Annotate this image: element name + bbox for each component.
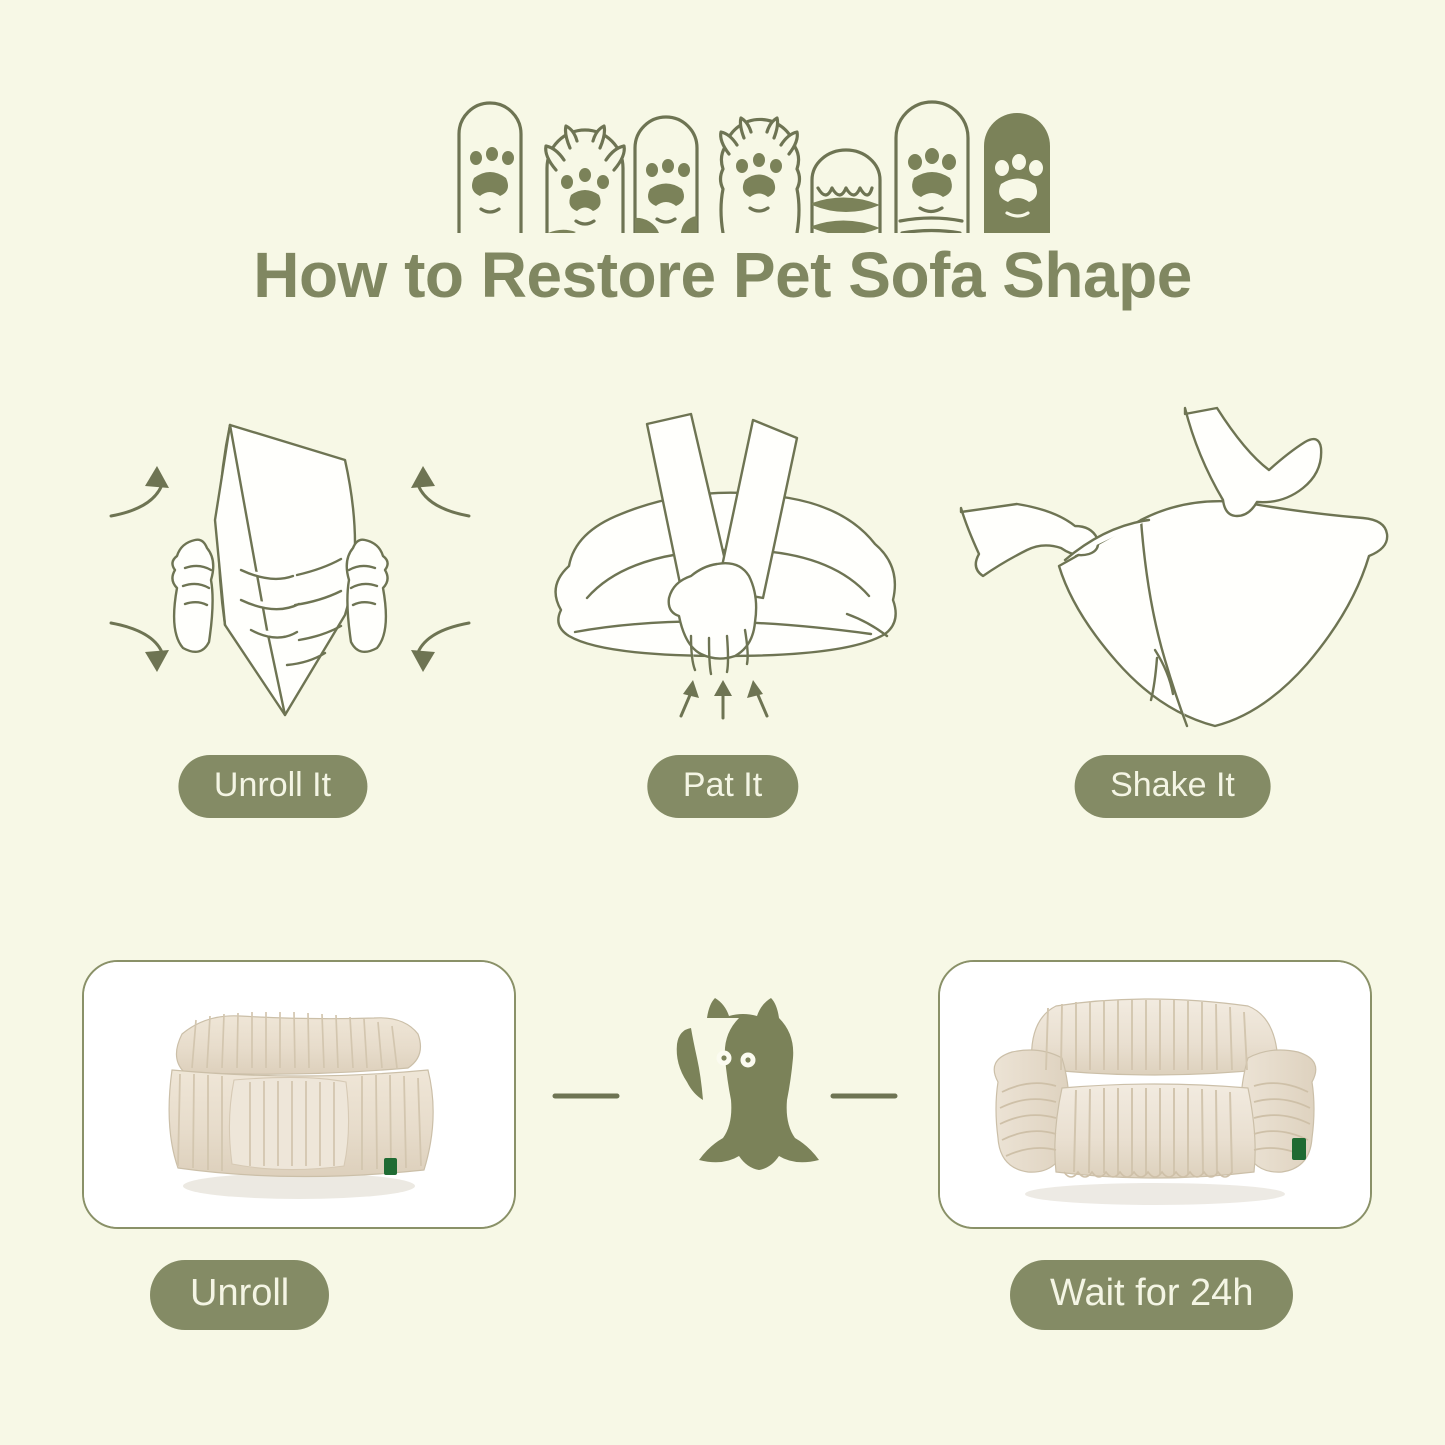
shake-it-illustration <box>945 400 1400 740</box>
step-label-shake-it: Shake It <box>1074 755 1271 818</box>
step-unroll-it: Unroll It <box>45 400 500 840</box>
steps-row: Unroll It <box>0 400 1445 840</box>
step-label-pat-it: Pat It <box>647 755 798 818</box>
divider-cat <box>545 970 905 1200</box>
cat-silhouette-icon <box>677 998 819 1170</box>
before-after-row: Unroll Wait for 24h <box>0 950 1445 1350</box>
pat-it-illustration <box>495 400 950 740</box>
page-title: How to Restore Pet Sofa Shape <box>0 238 1445 312</box>
step-label-unroll-it: Unroll It <box>178 755 367 818</box>
flat-pet-bed-image <box>84 962 514 1227</box>
step-pat-it: Pat It <box>495 400 950 840</box>
unroll-it-illustration <box>45 400 500 740</box>
product-tag <box>1292 1138 1306 1160</box>
cat-paws-decoration <box>0 58 1445 233</box>
after-product-card <box>938 960 1372 1229</box>
lofted-pet-sofa-image <box>940 962 1370 1227</box>
product-tag <box>384 1158 397 1175</box>
before-product-card <box>82 960 516 1229</box>
before-label-unroll: Unroll <box>150 1260 329 1330</box>
step-shake-it: Shake It <box>945 400 1400 840</box>
infographic-root: How to Restore Pet Sofa Shape <box>0 0 1445 1445</box>
after-label-wait: Wait for 24h <box>1010 1260 1293 1330</box>
